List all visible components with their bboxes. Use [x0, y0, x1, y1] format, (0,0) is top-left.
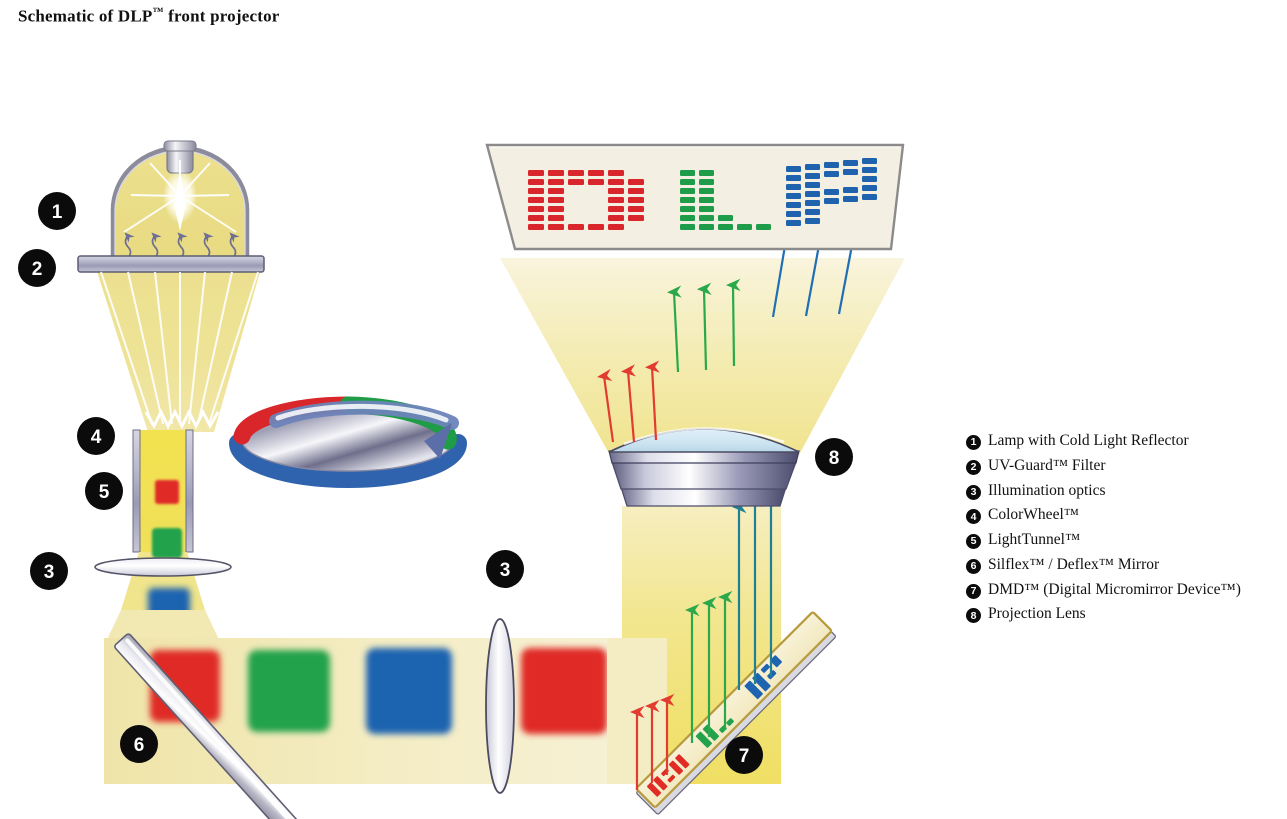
colorwheel: [238, 405, 458, 479]
lighttunnel-wall-left: [133, 430, 140, 552]
legend-label-2: UV-Guard™ Filter: [988, 457, 1106, 475]
legend-badge-3: 3: [966, 485, 981, 500]
projection-screen: [487, 145, 903, 249]
legend-item-6[interactable]: 6 Silflex™ / Deflex™ Mirror: [966, 556, 1286, 574]
legend: 1 Lamp with Cold Light Reflector 2 UV-Gu…: [966, 432, 1286, 630]
lighttunnel: [121, 430, 205, 610]
lamp-assembly: [78, 141, 264, 432]
svg-text:4: 4: [91, 427, 102, 448]
legend-badge-7: 7: [966, 584, 981, 599]
badge-4-colorwheel[interactable]: 4: [77, 417, 115, 455]
svg-text:5: 5: [99, 482, 110, 503]
legend-label-3: Illumination optics: [988, 482, 1106, 500]
svg-text:1: 1: [52, 202, 63, 223]
legend-item-1[interactable]: 1 Lamp with Cold Light Reflector: [966, 432, 1286, 450]
badge-3-illumination-optics-left[interactable]: 3: [30, 552, 68, 590]
legend-item-8[interactable]: 8 Projection Lens: [966, 605, 1286, 623]
svg-text:6: 6: [134, 735, 145, 756]
legend-badge-2: 2: [966, 460, 981, 475]
legend-label-7: DMD™ (Digital Micromirror Device™): [988, 581, 1241, 599]
color-frame-red-after-lens: [521, 648, 607, 734]
color-frame-green-tunnel: [152, 528, 182, 558]
lens-barrel-lower: [621, 487, 786, 506]
color-frame-blue-horizontal: [366, 648, 452, 734]
legend-label-5: LightTunnel™: [988, 531, 1080, 549]
svg-text:7: 7: [739, 746, 750, 767]
legend-label-4: ColorWheel™: [988, 506, 1079, 524]
color-frame-green-horizontal: [248, 650, 330, 732]
color-frame-red-tunnel: [155, 480, 179, 504]
legend-label-1: Lamp with Cold Light Reflector: [988, 432, 1189, 450]
lens-barrel-body: [612, 462, 796, 489]
legend-item-3[interactable]: 3 Illumination optics: [966, 482, 1286, 500]
lighttunnel-wall-right: [186, 430, 193, 552]
lamp-light-cone: [95, 265, 262, 432]
badge-8-projection-lens[interactable]: 8: [815, 438, 853, 476]
legend-badge-8: 8: [966, 608, 981, 623]
badge-1-lamp[interactable]: 1: [38, 192, 76, 230]
legend-badge-6: 6: [966, 559, 981, 574]
legend-badge-1: 1: [966, 435, 981, 450]
legend-item-5[interactable]: 5 LightTunnel™: [966, 531, 1286, 549]
legend-item-7[interactable]: 7 DMD™ (Digital Micromirror Device™): [966, 581, 1286, 599]
svg-text:8: 8: [829, 448, 840, 469]
legend-label-6: Silflex™ / Deflex™ Mirror: [988, 556, 1159, 574]
badge-7-dmd[interactable]: 7: [725, 736, 763, 774]
legend-item-4[interactable]: 4 ColorWheel™: [966, 506, 1286, 524]
svg-text:3: 3: [44, 562, 55, 583]
illumination-lens-horizontal: [95, 558, 231, 576]
horizontal-beam-section: [104, 610, 639, 819]
illumination-lens-vertical: [486, 619, 514, 793]
legend-item-2[interactable]: 2 UV-Guard™ Filter: [966, 457, 1286, 475]
svg-text:2: 2: [32, 259, 43, 280]
uv-guard-filter: [78, 256, 264, 272]
legend-badge-5: 5: [966, 534, 981, 549]
badge-2-uv-filter[interactable]: 2: [18, 249, 56, 287]
lamp-cap-top: [164, 141, 196, 151]
dmd-section: [607, 496, 837, 815]
legend-label-8: Projection Lens: [988, 605, 1086, 623]
svg-text:3: 3: [500, 560, 511, 581]
schematic-diagram: 1 2 4 5 3 6 3 7: [0, 0, 1287, 819]
badge-5-lighttunnel[interactable]: 5: [85, 472, 123, 510]
legend-badge-4: 4: [966, 509, 981, 524]
badge-6-mirror[interactable]: 6: [120, 725, 158, 763]
lens-horizontal-body: [95, 558, 231, 576]
badge-3-illumination-optics-right[interactable]: 3: [486, 550, 524, 588]
